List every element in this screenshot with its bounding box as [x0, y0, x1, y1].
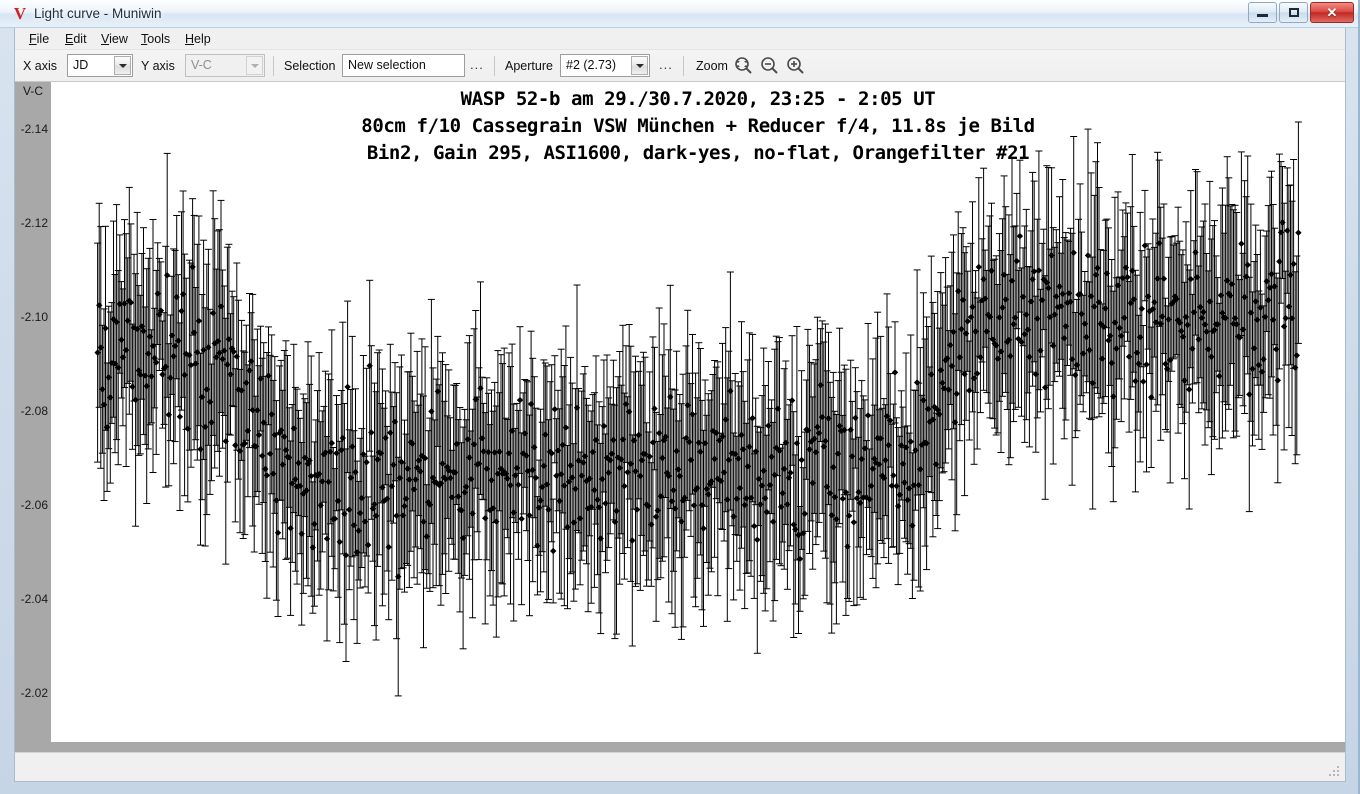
data-point [146, 248, 153, 424]
data-point [1224, 157, 1231, 405]
data-point [398, 355, 405, 569]
data-point [1051, 247, 1058, 381]
data-point [354, 461, 361, 643]
data-point [1002, 207, 1009, 393]
data-point [205, 249, 212, 445]
data-point [287, 441, 294, 615]
data-point [189, 199, 196, 335]
data-point [319, 411, 326, 552]
data-point [382, 391, 389, 485]
data-point [708, 391, 715, 572]
data-point [792, 455, 799, 604]
data-point [1203, 254, 1210, 410]
data-point [1012, 226, 1019, 410]
data-point [210, 191, 217, 436]
data-point [170, 249, 177, 464]
data-point [868, 415, 875, 556]
data-point [1116, 277, 1123, 379]
data-point [556, 409, 563, 593]
data-point [662, 376, 669, 497]
data-point [548, 365, 555, 542]
data-point [629, 435, 636, 646]
data-point [923, 317, 930, 570]
data-point [661, 324, 668, 557]
selection-more-button[interactable]: ... [470, 58, 484, 74]
chevron-down-icon[interactable] [246, 56, 263, 75]
data-point [885, 327, 892, 563]
data-point [1023, 209, 1030, 419]
data-point [1274, 278, 1281, 483]
data-point [812, 360, 819, 545]
data-point [1271, 228, 1278, 345]
data-point [219, 270, 226, 448]
data-point [706, 400, 713, 568]
zoom-out-icon[interactable] [759, 56, 781, 76]
data-point [518, 433, 525, 605]
data-point [741, 401, 748, 608]
data-point [415, 405, 422, 515]
data-point [722, 328, 729, 512]
menu-view[interactable]: View [95, 30, 134, 48]
data-point [559, 377, 566, 513]
data-point [858, 381, 865, 538]
data-point [164, 153, 171, 397]
data-point [493, 406, 500, 637]
data-point [420, 396, 427, 648]
data-point [1266, 177, 1273, 398]
data-point [153, 270, 160, 454]
data-point [694, 398, 701, 579]
data-point [1135, 315, 1142, 412]
data-point [406, 372, 413, 588]
data-point [1066, 241, 1073, 345]
data-point [1028, 231, 1035, 372]
data-point [1020, 248, 1027, 346]
data-point [665, 350, 672, 602]
data-point [134, 212, 141, 445]
data-point [880, 399, 887, 558]
data-point [686, 373, 693, 511]
data-point [893, 418, 900, 554]
data-point [1214, 278, 1221, 372]
menu-help[interactable]: Help [179, 30, 217, 48]
data-point [958, 234, 965, 425]
data-point [835, 381, 842, 527]
data-point [350, 431, 357, 620]
data-point [301, 399, 308, 517]
data-point [143, 269, 150, 504]
data-point [1270, 205, 1277, 436]
zoom-fit-icon[interactable] [733, 56, 755, 76]
data-point [827, 382, 834, 604]
data-point [700, 430, 707, 626]
data-point [1181, 282, 1188, 478]
data-point [1251, 262, 1258, 436]
data-point [1252, 225, 1259, 378]
aperture-combo[interactable]: #2 (2.73) [560, 54, 650, 77]
data-point [311, 442, 318, 606]
data-point [331, 469, 338, 569]
data-point [1024, 267, 1031, 393]
data-point [854, 392, 861, 605]
data-point [816, 344, 823, 523]
data-point [869, 359, 876, 579]
data-point [735, 382, 742, 536]
data-point [586, 421, 593, 535]
data-point [213, 269, 220, 445]
data-point [1197, 236, 1204, 378]
data-point [597, 443, 604, 633]
data-point [808, 362, 815, 521]
data-point [725, 351, 732, 568]
x-axis-combo[interactable]: JD [67, 54, 133, 77]
data-point [1137, 212, 1144, 462]
data-point [539, 422, 546, 552]
data-point [1268, 171, 1275, 377]
selection-input[interactable]: New selection [342, 54, 465, 77]
data-point [404, 372, 411, 566]
data-point [1282, 271, 1289, 365]
data-point [553, 419, 560, 533]
data-point [1009, 158, 1016, 403]
data-point [1072, 313, 1079, 438]
data-point [229, 291, 236, 406]
data-series [51, 82, 1345, 742]
data-point [852, 368, 859, 468]
menu-tools[interactable]: Tools [135, 30, 176, 48]
data-point [670, 409, 677, 571]
data-point [770, 422, 777, 621]
plot-area[interactable]: WASP 52-b am 29./30.7.2020, 23:25 - 2:05… [51, 82, 1345, 742]
data-point [172, 250, 179, 441]
data-point [102, 226, 109, 430]
data-point [363, 368, 370, 556]
data-point [929, 302, 936, 536]
titlebar-sheen [0, 0, 1360, 14]
chevron-down-icon[interactable] [631, 56, 648, 75]
data-point [842, 369, 849, 615]
data-point [379, 369, 386, 606]
data-point [672, 390, 679, 627]
minimize-button[interactable] [1248, 2, 1277, 23]
data-point [638, 385, 645, 535]
data-point [564, 446, 571, 609]
data-point [967, 243, 974, 390]
data-point [763, 435, 770, 589]
data-point [952, 314, 959, 531]
data-point [1005, 215, 1012, 465]
data-point [316, 353, 323, 596]
data-point [1086, 282, 1093, 418]
menu-edit[interactable]: Edit [59, 30, 93, 48]
data-point [276, 366, 283, 500]
data-point [545, 420, 552, 600]
data-point [1016, 160, 1023, 312]
data-point [458, 443, 465, 578]
data-point [241, 352, 248, 534]
data-point [282, 341, 289, 560]
data-point [1122, 203, 1129, 332]
data-point [107, 312, 114, 483]
data-point [986, 216, 993, 418]
data-point [613, 388, 620, 634]
data-point [676, 395, 683, 558]
data-point [396, 367, 403, 589]
title-bar: V Light curve - Muniwin ✕ [0, 0, 1360, 28]
minimize-icon [1249, 3, 1276, 22]
data-point [871, 405, 878, 512]
data-point [944, 287, 951, 430]
data-point [248, 313, 255, 410]
y-axis-title: V-C [15, 84, 51, 98]
data-point [412, 412, 419, 547]
data-point [224, 247, 231, 482]
data-point [1238, 152, 1245, 336]
muniwin-app-icon: V [10, 4, 30, 24]
data-point [1021, 226, 1028, 442]
data-point [338, 391, 345, 510]
data-point [890, 404, 897, 547]
data-point [368, 346, 375, 520]
data-point [1217, 205, 1224, 385]
data-point [1050, 228, 1057, 464]
data-point [651, 347, 658, 470]
data-point [425, 431, 432, 574]
data-point [903, 353, 910, 542]
data-point [1031, 181, 1038, 362]
data-point [1127, 207, 1134, 400]
aperture-more-button[interactable]: ... [659, 58, 673, 74]
data-point [452, 386, 459, 560]
data-point [365, 497, 372, 593]
data-point [482, 413, 489, 624]
data-point [181, 254, 188, 496]
data-point [998, 251, 1005, 453]
data-point [1184, 265, 1191, 385]
data-point [945, 331, 952, 449]
light-curve-chart[interactable]: V-C -2.14-2.12-2.10-2.08-2.06-2.04-2.02 … [15, 82, 1346, 750]
data-point [574, 285, 581, 531]
data-point [934, 292, 941, 529]
data-point [184, 356, 191, 502]
data-point [1141, 190, 1148, 300]
data-point [113, 205, 120, 440]
data-point [909, 453, 916, 599]
data-point [512, 428, 519, 522]
data-point [96, 203, 103, 407]
data-point [744, 360, 751, 573]
data-point [771, 349, 778, 600]
data-point [281, 351, 288, 523]
data-point [1013, 193, 1020, 328]
selection-value: New selection [348, 55, 426, 76]
data-point [947, 286, 954, 405]
data-point [591, 393, 598, 588]
data-point [675, 421, 682, 518]
data-point [358, 429, 365, 568]
data-point [1010, 227, 1017, 422]
data-point [1292, 272, 1299, 464]
y-tick-label: -2.10 [15, 310, 48, 324]
data-point [101, 309, 108, 501]
data-point [259, 358, 266, 553]
data-point [866, 449, 873, 549]
window-title: Light curve - Muniwin [34, 4, 162, 24]
data-point [1037, 289, 1044, 412]
data-point [524, 382, 531, 561]
data-point [642, 357, 649, 551]
data-point [129, 324, 136, 449]
data-point [779, 444, 786, 542]
data-point [1007, 255, 1014, 458]
data-point [774, 342, 781, 476]
data-point [1276, 154, 1283, 369]
data-point [1287, 185, 1294, 365]
data-point [218, 200, 225, 412]
data-point [279, 390, 286, 539]
data-point [447, 418, 454, 539]
data-point [809, 397, 816, 569]
x-axis-label: X axis [23, 58, 57, 74]
data-point [705, 394, 712, 596]
data-point [1244, 156, 1251, 374]
tool-bar: X axis JD Y axis V-C Selection New selec… [15, 50, 1346, 82]
data-point [755, 432, 762, 525]
data-point [550, 499, 557, 603]
resize-grip[interactable] [1326, 763, 1342, 779]
data-point [401, 420, 408, 592]
data-point [1228, 205, 1235, 364]
data-point [664, 408, 671, 538]
data-point [1040, 229, 1047, 329]
data-point [1211, 221, 1218, 440]
data-point [324, 437, 331, 641]
data-point [1167, 237, 1174, 483]
data-point [1260, 306, 1267, 413]
data-point [920, 293, 927, 508]
data-point [993, 256, 1000, 435]
data-point [268, 335, 275, 494]
data-point [488, 390, 495, 571]
data-point [1222, 205, 1229, 431]
data-point [999, 219, 1006, 396]
data-point [569, 383, 576, 572]
data-point [444, 416, 451, 519]
data-point [1154, 152, 1161, 405]
data-point [1073, 299, 1080, 430]
data-point [260, 343, 267, 503]
data-point [830, 372, 837, 562]
data-point [1205, 271, 1212, 428]
client-area: File Edit View Tools Help X axis JD Y ax… [14, 28, 1346, 780]
close-button[interactable]: ✕ [1310, 2, 1354, 23]
data-point [222, 318, 229, 564]
data-point [974, 298, 981, 449]
data-point [681, 438, 688, 557]
data-point [502, 418, 509, 529]
chevron-down-icon[interactable] [114, 56, 131, 75]
data-point [151, 308, 158, 408]
data-point [621, 393, 628, 579]
data-point [578, 391, 585, 560]
data-point [305, 342, 312, 586]
data-point [1273, 273, 1280, 425]
data-point [896, 436, 903, 553]
data-point [1096, 188, 1103, 417]
data-point [931, 313, 938, 500]
data-point [1285, 186, 1292, 428]
data-point [328, 330, 335, 556]
data-point [983, 270, 990, 392]
data-point [719, 343, 726, 529]
data-point [417, 394, 424, 549]
data-point [928, 256, 935, 493]
data-point [789, 336, 796, 466]
data-point [265, 327, 272, 425]
data-point [466, 336, 473, 580]
data-point [1290, 160, 1297, 369]
data-point [278, 360, 285, 500]
data-point [137, 295, 144, 454]
data-point [950, 235, 957, 429]
data-point [1265, 206, 1272, 395]
data-point [145, 258, 152, 449]
data-point [892, 322, 899, 423]
data-point [1191, 241, 1198, 384]
data-point [437, 361, 444, 605]
data-point [1124, 213, 1131, 341]
data-point [532, 408, 539, 547]
data-point [895, 428, 902, 585]
data-point [596, 402, 603, 613]
data-point [1045, 168, 1052, 409]
data-point [1281, 203, 1288, 450]
zoom-in-icon[interactable] [785, 56, 807, 76]
data-point [347, 390, 354, 567]
data-point [460, 427, 467, 649]
data-point [914, 270, 921, 495]
data-point [1062, 233, 1069, 420]
y-tick-label: -2.02 [15, 686, 48, 700]
data-point [668, 389, 675, 614]
data-point [186, 260, 193, 450]
data-point [262, 376, 269, 561]
data-point [782, 361, 789, 524]
y-axis-combo[interactable]: V-C [185, 54, 265, 77]
data-point [1148, 327, 1155, 467]
data-point [1178, 255, 1185, 408]
data-point [977, 302, 984, 413]
data-point [1035, 151, 1042, 390]
data-point [121, 220, 128, 388]
data-point [526, 415, 533, 616]
data-point [385, 474, 392, 619]
data-point [825, 332, 832, 504]
data-point [191, 215, 198, 449]
data-point [254, 329, 261, 491]
aperture-value: #2 (2.73) [566, 55, 616, 76]
data-point [567, 357, 574, 573]
data-point [703, 415, 710, 562]
data-point [1099, 304, 1106, 414]
data-point [428, 299, 435, 523]
data-point [1111, 197, 1118, 447]
maximize-button[interactable] [1279, 2, 1308, 23]
data-point [366, 280, 373, 451]
data-point [237, 369, 244, 532]
menu-file[interactable]: File [23, 30, 55, 48]
data-point [711, 361, 718, 558]
